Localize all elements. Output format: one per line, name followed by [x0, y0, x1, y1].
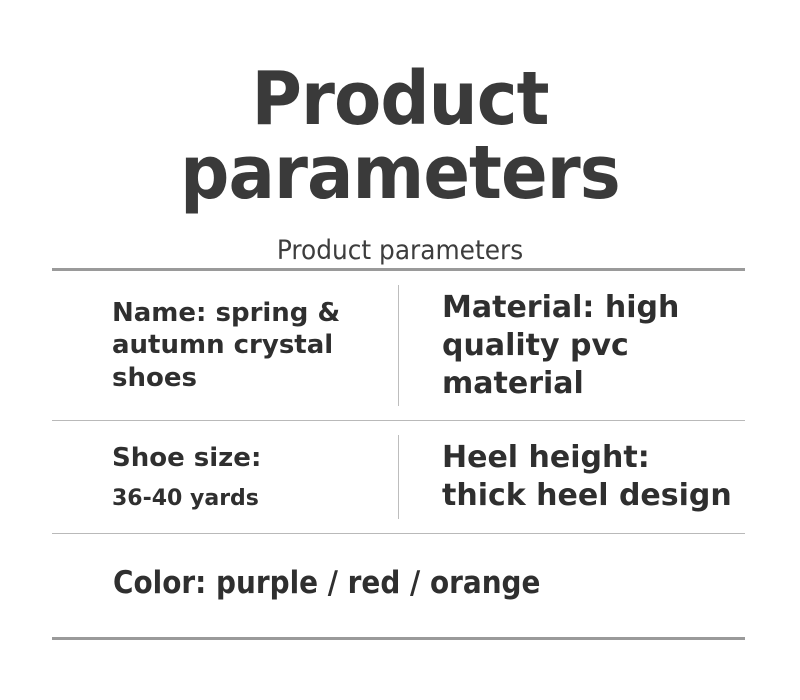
- spec-cell-name: Name: spring & autumn crystal shoes: [52, 271, 398, 420]
- page-subtitle: Product parameters: [32, 210, 768, 266]
- spec-label-material: Material: high quality pvc material: [442, 289, 741, 402]
- spec-cell-heel-height: Heel height: thick heel design: [398, 421, 745, 533]
- column-divider: [398, 435, 399, 519]
- spec-cell-shoe-size: Shoe size: 36-40 yards: [52, 421, 398, 533]
- spec-row-size-heel: Shoe size: 36-40 yards Heel height: thic…: [52, 421, 745, 534]
- spec-cell-color: Color: purple / red / orange: [52, 534, 745, 637]
- page-title: Product parameters: [28, 62, 772, 210]
- page-header: Product parameters Product parameters: [0, 0, 800, 266]
- spec-row-color: Color: purple / red / orange: [52, 534, 745, 640]
- spec-row-name-material: Name: spring & autumn crystal shoes Mate…: [52, 271, 745, 421]
- spec-label-heel-height: Heel height: thick heel design: [442, 439, 741, 515]
- spec-label-color: Color: purple / red / orange: [113, 564, 667, 603]
- column-divider: [398, 285, 399, 406]
- spec-value-shoe-size: 36-40 yards: [112, 475, 382, 513]
- spec-label-shoe-size: Shoe size:: [112, 442, 382, 475]
- product-parameters-page: Product parameters Product parameters Na…: [0, 0, 800, 700]
- spec-table: Name: spring & autumn crystal shoes Mate…: [52, 268, 745, 640]
- spec-label-name: Name: spring & autumn crystal shoes: [112, 297, 382, 395]
- spec-cell-material: Material: high quality pvc material: [398, 271, 745, 420]
